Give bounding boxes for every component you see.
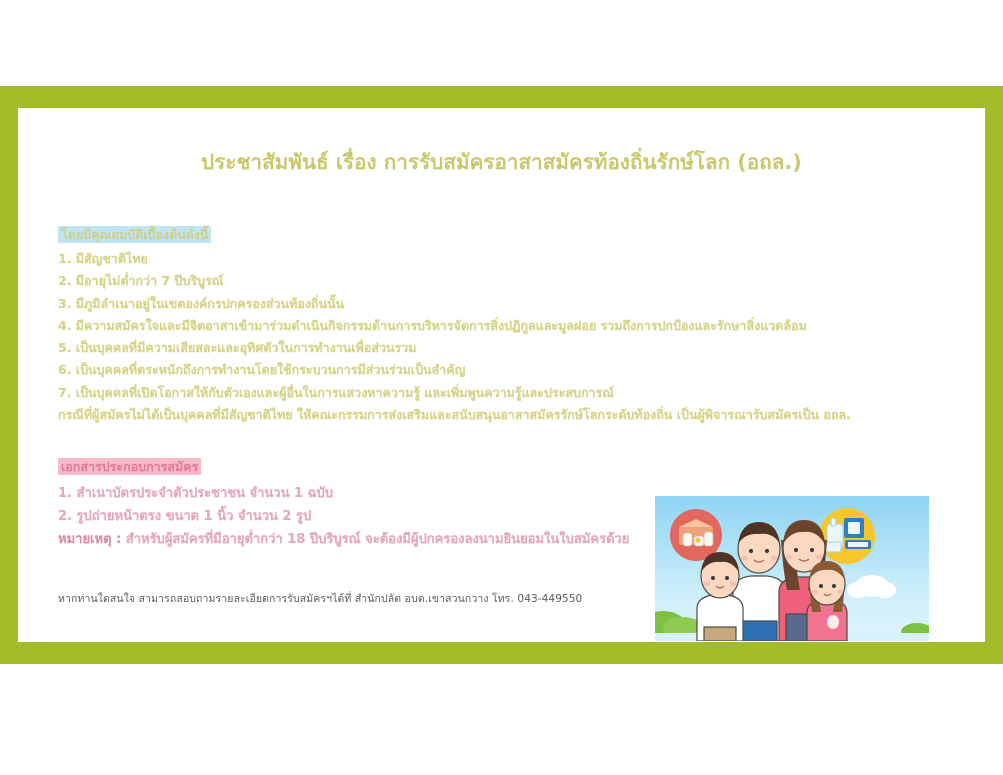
qualification-item: 1. มีสัญชาติไทย (58, 248, 858, 270)
qualifications-heading: โดยมีคุณสมบัติเบื้องต้นดังนี้ (58, 226, 211, 243)
qualification-item: 2. มีอายุไม่ต่ำกว่า 7 ปีบริบูรณ์ (58, 270, 858, 292)
qualification-item: 7. เป็นบุคคลที่เปิดโอกาสให้กับตัวเองและผ… (58, 382, 858, 404)
family-waste-separation-illustration (655, 496, 929, 641)
documents-heading-wrapper: เอกสารประกอบการสมัคร (58, 456, 678, 476)
documents-note-label: หมายเหตุ : (58, 532, 121, 547)
qualification-item: 6. เป็นบุคคลที่ตระหนักถึงการทำงานโดยใช้ก… (58, 359, 858, 381)
documents-note-text: สำหรับผู้สมัครที่มีอายุต่ำกว่า 18 ปีบริบ… (121, 532, 629, 547)
qualifications-section: โดยมีคุณสมบัติเบื้องต้นดังนี้ 1. มีสัญชา… (58, 224, 858, 426)
badge-recycling-items-icon (819, 508, 875, 564)
qualification-item: 3. มีภูมิลำเนาอยู่ในเขตองค์กรปกครองส่วนท… (58, 293, 858, 315)
poster-border-frame: ประชาสัมพันธ์ เรื่อง การรับสมัครอาสาสมัค… (0, 86, 1003, 664)
page-title: ประชาสัมพันธ์ เรื่อง การรับสมัครอาสาสมัค… (18, 146, 985, 179)
qualifications-note: กรณีที่ผู้สมัครไม่ได้เป็นบุคคลที่มีสัญชา… (58, 404, 858, 426)
documents-heading: เอกสารประกอบการสมัคร (58, 458, 201, 475)
figure-girl (807, 561, 847, 641)
footer-contact-line: หากท่านใดสนใจ สามารถสอบถามรายละเอียดการร… (58, 590, 582, 607)
documents-section: เอกสารประกอบการสมัคร 1. สำเนาบัตรประจำตั… (58, 456, 678, 551)
document-item: 1. สำเนาบัตรประจำตัวประชาชน จำนวน 1 ฉบับ (58, 482, 678, 505)
illustration-svg (655, 496, 929, 641)
documents-note: หมายเหตุ : สำหรับผู้สมัครที่มีอายุต่ำกว่… (58, 528, 678, 551)
qualification-item: 4. มีความสมัครใจและมีจิตอาสาเข้ามาร่วมดำ… (58, 315, 858, 337)
poster-canvas: ประชาสัมพันธ์ เรื่อง การรับสมัครอาสาสมัค… (18, 108, 985, 642)
qualifications-heading-wrapper: โดยมีคุณสมบัติเบื้องต้นดังนี้ (58, 224, 858, 244)
qualification-item: 5. เป็นบุคคลที่มีความเสียสละและอุทิศตัวใ… (58, 337, 858, 359)
document-item: 2. รูปถ่ายหน้าตรง ขนาด 1 นิ้ว จำนวน 2 รู… (58, 505, 678, 528)
